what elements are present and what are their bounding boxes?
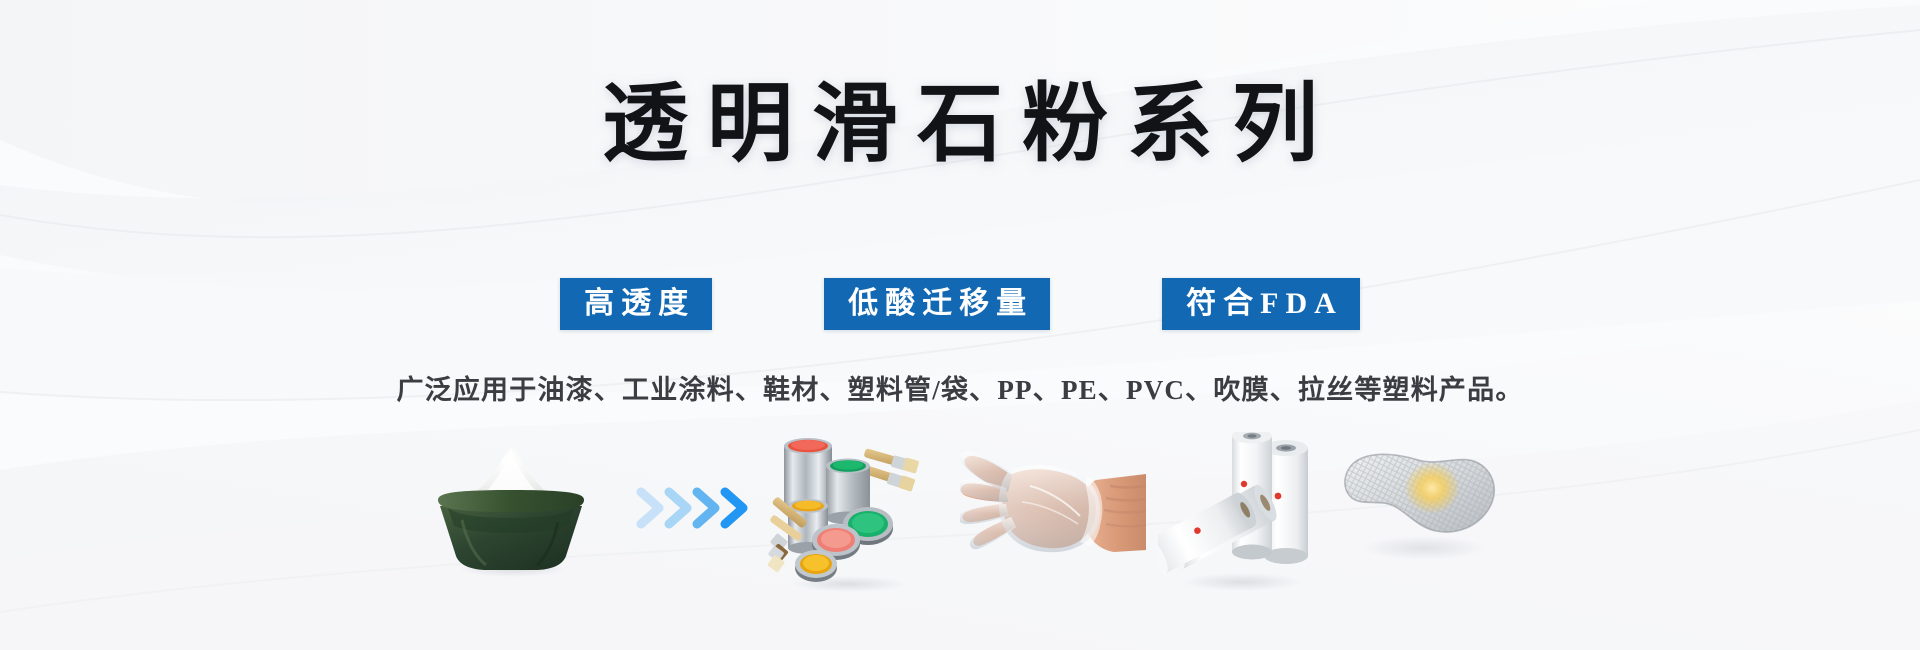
feature-badge-fda-compliant[interactable]: 符合FDA xyxy=(1162,278,1360,330)
subtitle-text: 广泛应用于油漆、工业涂料、鞋材、塑料管/袋、PP、PE、PVC、吹膜、拉丝等塑料… xyxy=(396,368,1523,407)
bowl-rim xyxy=(438,490,584,512)
product-banner: 透明滑石粉系列 高透度 低酸迁移量 符合FDA 广泛应用于油漆、工业涂料、鞋材、… xyxy=(0,0,1920,650)
subtitle: 广泛应用于油漆、工业涂料、鞋材、塑料管/袋、PP、PE、PVC、吹膜、拉丝等塑料… xyxy=(0,368,1920,407)
chevron-right-icon-3 xyxy=(697,492,715,524)
sole-glow-highlight xyxy=(1404,462,1460,514)
process-arrows-icon xyxy=(635,480,755,536)
page-title: 透明滑石粉系列 xyxy=(0,78,1920,171)
plastic-film-rolls-image xyxy=(1158,432,1318,592)
roll-brand-mark-2 xyxy=(1241,481,1247,487)
chevron-right-icon-2 xyxy=(669,492,687,524)
roll-brand-mark-1 xyxy=(1275,493,1282,500)
chevron-right-icon-4 xyxy=(725,492,743,524)
plastic-glove-hand-image xyxy=(960,446,1146,576)
feature-badge-high-transparency[interactable]: 高透度 xyxy=(560,278,712,330)
feature-badge-low-acid-migration[interactable]: 低酸迁移量 xyxy=(824,278,1050,330)
talc-powder-bowl-image xyxy=(418,438,604,576)
chevron-right-icon-1 xyxy=(641,492,659,524)
main-title-text: 透明滑石粉系列 xyxy=(583,78,1337,171)
paint-cans-image xyxy=(768,432,928,592)
feature-badge-list: 高透度 低酸迁移量 符合FDA xyxy=(0,278,1920,330)
shoe-sole-image xyxy=(1336,444,1508,574)
product-image-strip xyxy=(0,432,1920,612)
